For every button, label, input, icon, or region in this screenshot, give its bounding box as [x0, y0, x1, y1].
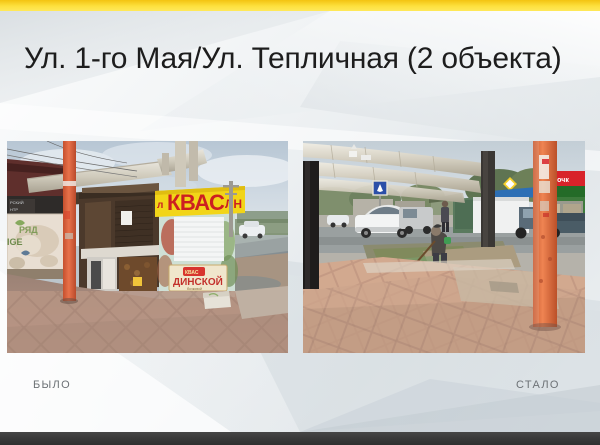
svg-text:ЛН: ЛН — [225, 197, 242, 211]
svg-text:бочковой: бочковой — [187, 287, 202, 291]
title-container: Ул. 1-го Мая/Ул. Тепличная (2 объекта) — [24, 36, 584, 82]
bottom-bar — [0, 432, 600, 445]
photo-after[interactable]: P ерочк — [303, 141, 585, 353]
svg-text:НТР: НТР — [10, 207, 18, 212]
svg-text:IGE: IGE — [7, 237, 23, 247]
svg-text:л: л — [157, 200, 163, 211]
svg-text:РСКИЙ: РСКИЙ — [10, 200, 24, 205]
svg-text:КВАС: КВАС — [185, 270, 199, 276]
caption-before: БЫЛО — [33, 379, 71, 391]
caption-after: СТАЛО — [516, 379, 560, 391]
presentation-slide: Ул. 1-го Мая/Ул. Тепличная (2 объекта) — [0, 0, 600, 445]
svg-text:КВАС: КВАС — [167, 190, 225, 215]
top-accent-bar — [0, 0, 600, 11]
page-title: Ул. 1-го Мая/Ул. Тепличная (2 объекта) — [24, 42, 562, 76]
svg-text:РЯД: РЯД — [19, 225, 38, 235]
photo-before[interactable]: РСКИЙ НТР РЯД IGE — [7, 141, 288, 353]
